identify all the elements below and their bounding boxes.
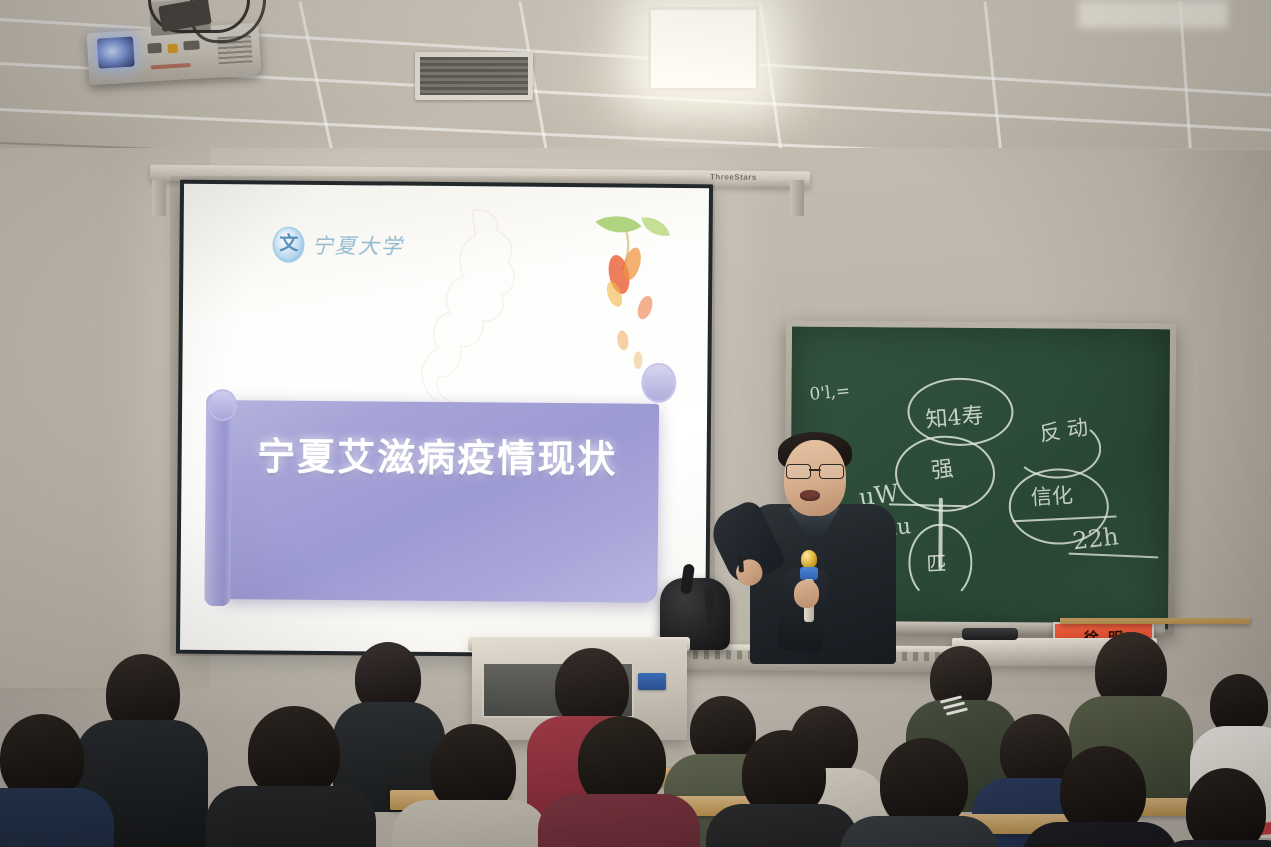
chalk-note: 匹	[926, 547, 947, 577]
slide-title: 宁夏艾滋病疫情现状	[257, 437, 654, 482]
presenter-hand-holding-mic	[794, 580, 819, 608]
audience-area: H	[0, 618, 1271, 847]
glasses-icon	[786, 464, 844, 477]
university-logo: 文 宁夏大学	[273, 226, 404, 263]
slide-scroll-banner: 宁夏艾滋病疫情现状	[204, 389, 678, 607]
projection-screen-frame: 文 宁夏大学 宁夏艾滋病疫情现状	[176, 180, 713, 659]
chalk-note: 知4寿	[924, 398, 984, 435]
scroll-roll-left	[204, 393, 232, 605]
chalk-note: 22h	[1071, 522, 1120, 555]
scroll-curl-left-icon	[207, 389, 236, 421]
ceiling-air-vent	[415, 52, 533, 100]
goji-berry-decoration	[571, 206, 688, 393]
projected-slide: 文 宁夏大学 宁夏艾滋病疫情现状	[180, 184, 709, 655]
emblem-glyph: 文	[279, 235, 298, 254]
scroll-curl-right-icon	[641, 363, 676, 404]
chalk-note: 0'l,=	[809, 381, 851, 405]
ningxia-map-watermark	[408, 204, 546, 410]
desk-row-back	[1060, 618, 1250, 624]
presenter-mouth	[800, 490, 820, 501]
roller-brand-label: ThreeStars	[710, 172, 757, 181]
projector-lens	[97, 36, 135, 68]
university-name: 宁夏大学	[312, 230, 404, 261]
chalk-note: 强	[929, 451, 955, 485]
roller-bracket-right	[790, 180, 804, 216]
pen-in-hand	[738, 554, 744, 572]
lecture-hall-photo: ThreeStars	[0, 0, 1271, 847]
microphone-head	[801, 550, 817, 568]
chalk-note: 信化	[1030, 479, 1074, 512]
ceiling-light-glow	[1078, 0, 1228, 28]
roller-bracket-left	[152, 180, 166, 216]
scroll-body	[223, 400, 659, 603]
ceiling-light-panel	[648, 7, 759, 91]
university-emblem-icon: 文	[273, 226, 305, 262]
